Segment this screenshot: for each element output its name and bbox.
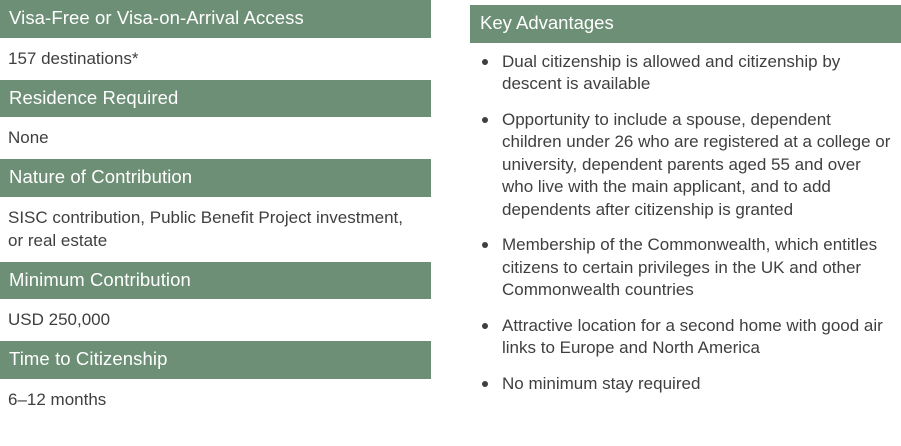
list-item-text: Membership of the Commonwealth, which en… [502, 235, 877, 299]
list-item: Attractive location for a second home wi… [470, 315, 901, 360]
fact-row: Time to Citizenship 6–12 months [0, 341, 431, 421]
bullet-icon [482, 242, 488, 248]
fact-row: Visa-Free or Visa-on-Arrival Access 157 … [0, 0, 431, 80]
fact-value-residence-required: None [0, 117, 431, 159]
factsheet-page: Visa-Free or Visa-on-Arrival Access 157 … [0, 0, 901, 446]
list-item-text: No minimum stay required [502, 374, 700, 393]
bullet-icon [482, 117, 488, 123]
fact-header-nature-of-contribution: Nature of Contribution [0, 159, 431, 197]
list-item: Membership of the Commonwealth, which en… [470, 234, 901, 302]
fact-row: Minimum Contribution USD 250,000 [0, 262, 431, 342]
fact-value-time-to-citizenship: 6–12 months [0, 379, 431, 421]
bullet-icon [482, 323, 488, 329]
fact-header-visa-free-access: Visa-Free or Visa-on-Arrival Access [0, 0, 431, 38]
fact-value-visa-free-access: 157 destinations* [0, 38, 431, 80]
key-advantages-column: Key Advantages Dual citizenship is allow… [470, 5, 901, 395]
fact-value-nature-of-contribution: SISC contribution, Public Benefit Projec… [0, 197, 431, 262]
list-item: Opportunity to include a spouse, depende… [470, 109, 901, 222]
key-advantages-header: Key Advantages [470, 5, 901, 43]
fact-row: Nature of Contribution SISC contribution… [0, 159, 431, 262]
bullet-icon [482, 381, 488, 387]
fact-header-minimum-contribution: Minimum Contribution [0, 262, 431, 300]
fact-header-time-to-citizenship: Time to Citizenship [0, 341, 431, 379]
list-item-text: Dual citizenship is allowed and citizens… [502, 52, 840, 94]
fact-row: Residence Required None [0, 80, 431, 160]
list-item: No minimum stay required [470, 373, 901, 396]
left-facts-column: Visa-Free or Visa-on-Arrival Access 157 … [0, 0, 431, 421]
list-item-text: Attractive location for a second home wi… [502, 316, 883, 358]
key-advantages-list: Dual citizenship is allowed and citizens… [470, 43, 901, 396]
list-item: Dual citizenship is allowed and citizens… [470, 51, 901, 96]
fact-header-residence-required: Residence Required [0, 80, 431, 118]
bullet-icon [482, 59, 488, 65]
list-item-text: Opportunity to include a spouse, depende… [502, 110, 890, 219]
fact-value-minimum-contribution: USD 250,000 [0, 299, 431, 341]
